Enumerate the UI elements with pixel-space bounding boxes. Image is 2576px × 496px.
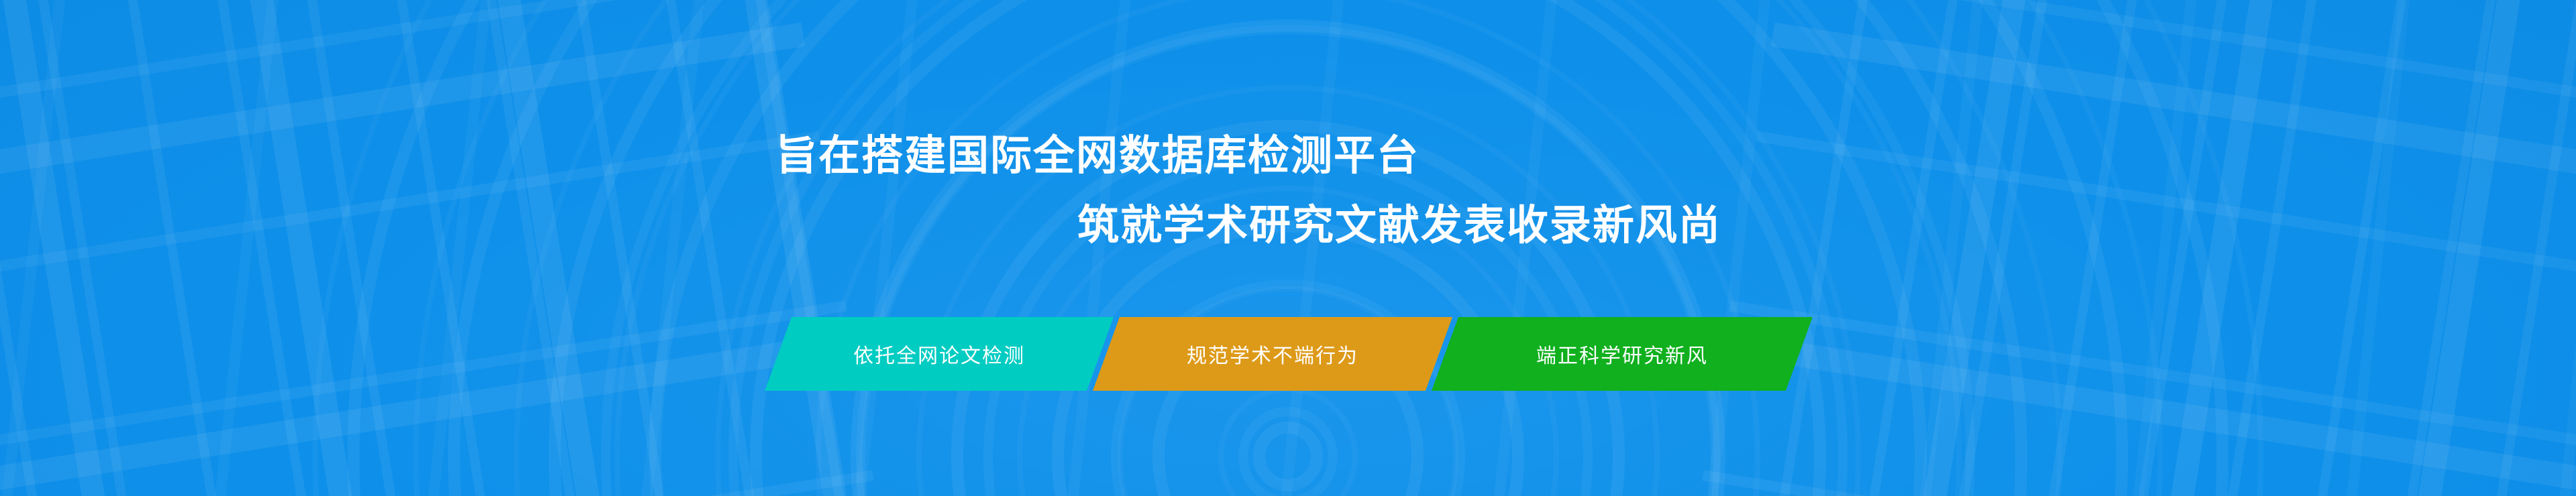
- headline-line-1: 旨在搭建国际全网数据库检测平台: [775, 135, 1419, 177]
- feature-tag-misconduct[interactable]: 规范学术不端行为: [1093, 317, 1452, 391]
- feature-tag-research-ethos-label: 端正科学研究新风: [1536, 339, 1708, 369]
- grid-fine-lines-left: [0, 0, 899, 496]
- feature-tag-research-ethos[interactable]: 端正科学研究新风: [1432, 317, 1813, 391]
- grid-coarse-lines-left: [0, 0, 899, 496]
- feature-tag-misconduct-label: 规范学术不端行为: [1187, 339, 1358, 369]
- feature-tag-detection-label: 依托全网论文检测: [853, 339, 1025, 369]
- grid-pattern-right: [1677, 0, 2576, 496]
- feature-tag-detection[interactable]: 依托全网论文检测: [765, 317, 1114, 391]
- grid-pattern-left: [0, 0, 899, 496]
- headline-line-2: 筑就学术研究文献发表收录新风尚: [1077, 205, 1721, 247]
- promo-banner: 旨在搭建国际全网数据库检测平台 筑就学术研究文献发表收录新风尚 依托全网论文检测…: [0, 0, 2576, 496]
- grid-coarse-lines-right: [1677, 0, 2576, 496]
- feature-tag-strip: 依托全网论文检测 规范学术不端行为 端正科学研究新风: [778, 317, 1799, 391]
- grid-fine-lines-right: [1677, 0, 2576, 496]
